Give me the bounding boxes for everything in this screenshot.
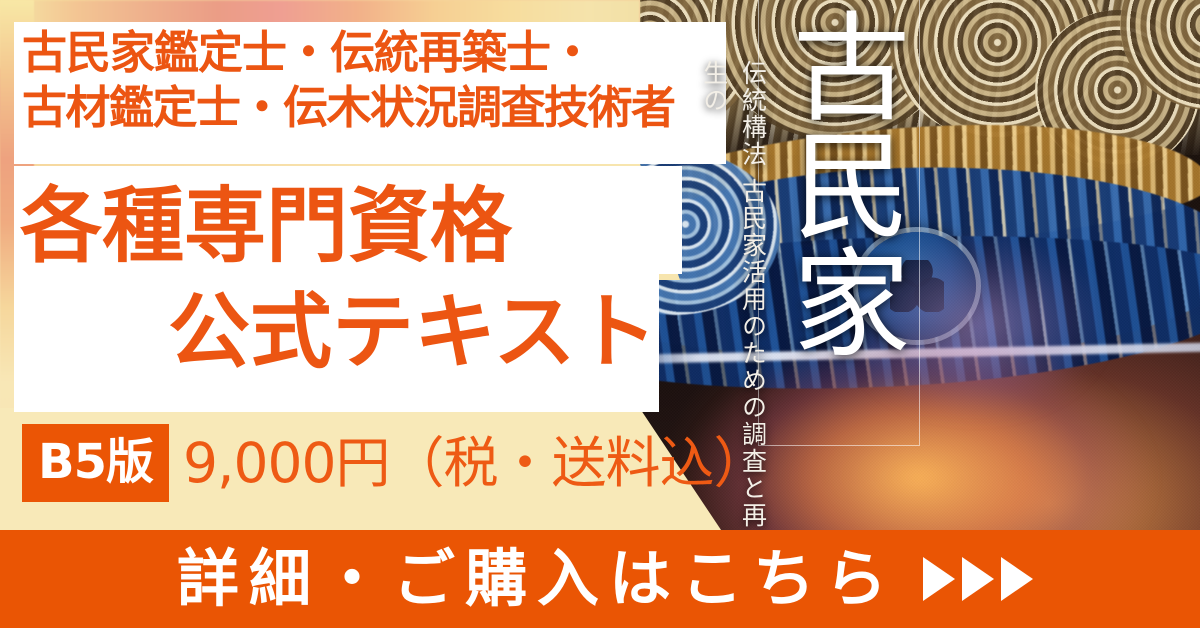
subtitle-line-1: 各種専門資格 xyxy=(20,186,512,268)
headline: 古民家鑑定士・伝統再築士・ 古材鑑定士・伝木状況調査技術者 xyxy=(14,26,724,136)
subtitle-line-2: 公式テキスト xyxy=(168,292,658,374)
cta-arrows xyxy=(923,557,1033,601)
cta-bar[interactable]: 詳細・ご購入はこちら xyxy=(0,530,1200,628)
cta-label: 詳細・ご購入はこちら xyxy=(167,548,897,610)
headline-line-1: 古民家鑑定士・伝統再築士・ xyxy=(22,26,724,81)
triangle-right-icon xyxy=(962,557,994,601)
book-title: 古民家 xyxy=(766,6,911,360)
size-badge: B5版 xyxy=(22,424,169,502)
triangle-right-icon xyxy=(1001,557,1033,601)
price-label: 9,000円（税・送料込） xyxy=(183,436,767,491)
headline-line-2: 古材鑑定士・伝木状況調査技術者 xyxy=(22,81,724,136)
book-subtitle-line-1: 伝統構法 xyxy=(739,60,768,168)
promo-banner[interactable]: 古民家 伝統構法 古民家活用のための調査と再生の 古民家鑑定士・伝統再築士・ 古… xyxy=(0,0,1200,628)
price-row: B5版 9,000円（税・送料込） xyxy=(22,424,767,502)
triangle-right-icon xyxy=(923,557,955,601)
